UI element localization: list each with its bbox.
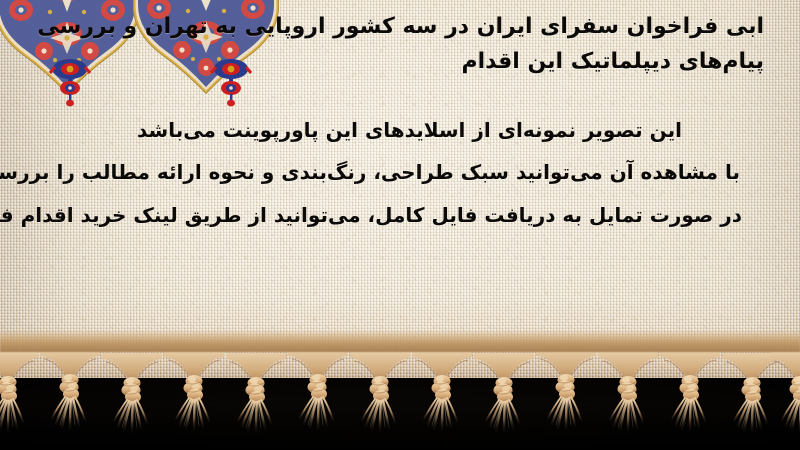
title-line-2: پیام‌های دیپلماتیک این اقدام	[462, 49, 765, 74]
body-line-3: در صورت تمایل به دریافت فایل کامل، می‌تو…	[0, 203, 742, 227]
title-line-1: ابی فراخوان سفرای ایران در سه کشور اروپا…	[37, 14, 764, 39]
body-line-1: این تصویر نمونه‌ای از اسلایدهای این پاور…	[137, 118, 682, 142]
slide-canvas: ابی فراخوان سفرای ایران در سه کشور اروپا…	[0, 0, 800, 450]
body-line-2: با مشاهده آن می‌توانید سبک طراحی، رنگ‌بن…	[0, 160, 740, 184]
